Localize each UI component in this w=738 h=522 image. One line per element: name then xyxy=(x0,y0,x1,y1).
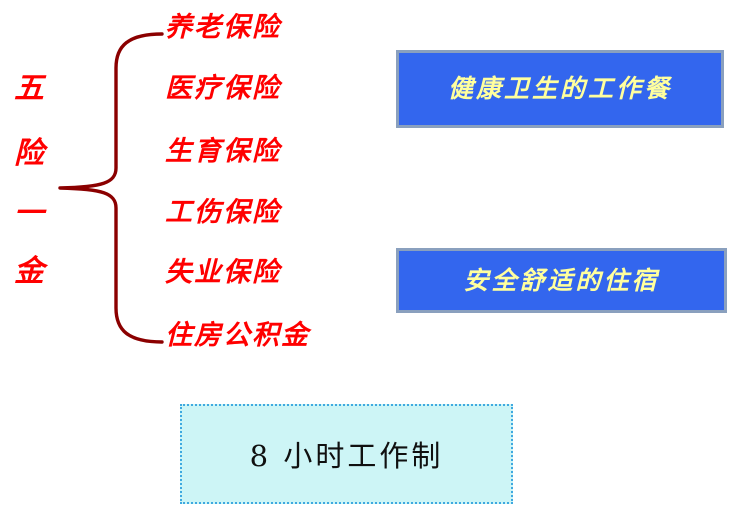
insurance-item: 生育保险 xyxy=(165,137,281,167)
work-hours-box: 8 小时工作制 xyxy=(180,404,513,504)
benefit-box-meals: 健康卫生的工作餐 xyxy=(396,50,724,128)
insurance-item: 工伤保险 xyxy=(165,198,281,228)
curly-brace-icon xyxy=(50,20,175,355)
benefit-box-housing: 安全舒适的住宿 xyxy=(396,248,727,313)
insurance-item: 住房公积金 xyxy=(165,321,310,351)
benefit-box-label: 健康卫生的工作餐 xyxy=(448,75,672,103)
left-label-char-1: 五 xyxy=(6,74,52,104)
left-label-char-2: 险 xyxy=(6,139,52,169)
left-label-char-3: 一 xyxy=(6,199,52,229)
work-hours-label: 8 小时工作制 xyxy=(250,433,444,475)
insurance-item: 失业保险 xyxy=(165,258,281,288)
benefit-box-label: 安全舒适的住宿 xyxy=(463,267,659,295)
insurance-item: 养老保险 xyxy=(165,13,281,43)
insurance-item: 医疗保险 xyxy=(165,74,281,104)
slide-canvas: 五 险 一 金 养老保险 医疗保险 生育保险 工伤保险 失业保险 住房公积金 健… xyxy=(0,0,738,522)
left-label-char-4: 金 xyxy=(6,257,52,287)
